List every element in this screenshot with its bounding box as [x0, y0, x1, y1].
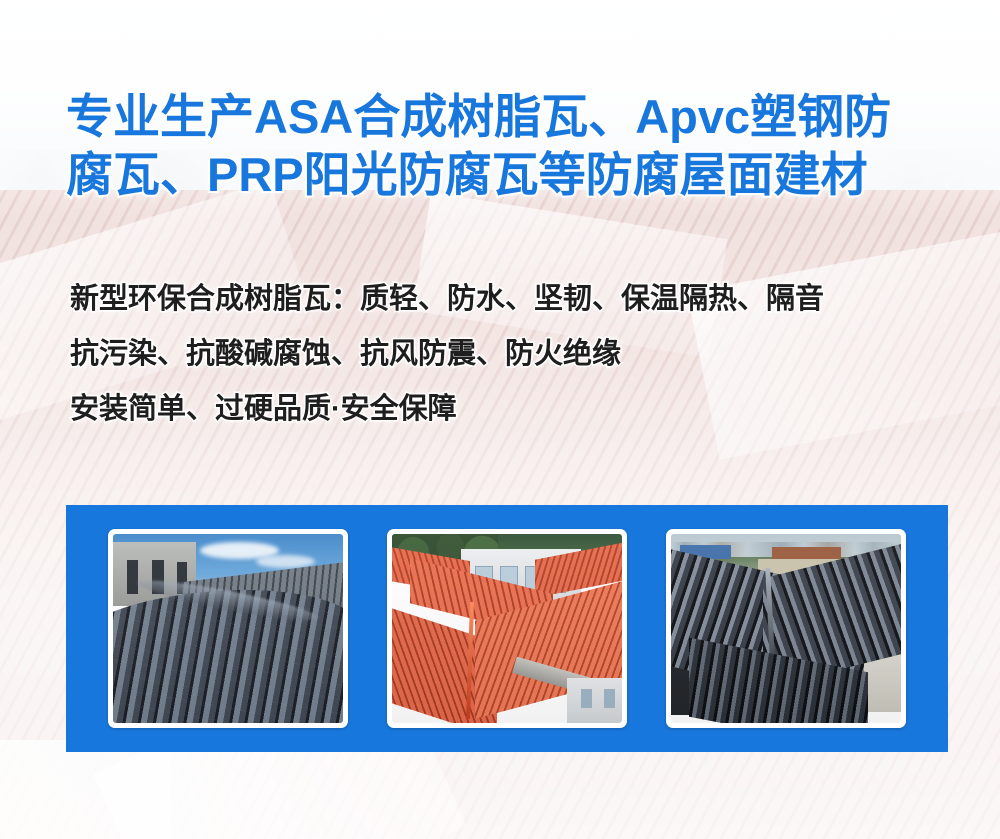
subheadline-line-2: 抗污染、抗酸碱腐蚀、抗风防震、防火绝缘 — [70, 327, 970, 382]
subheadline-line-3: 安装简单、过硬品质·安全保障 — [70, 382, 970, 437]
headline: 专业生产ASA合成树脂瓦、Apvc塑钢防 腐瓦、PRP阳光防腐瓦等防腐屋面建材 — [66, 88, 956, 204]
subheadline: 新型环保合成树脂瓦：质轻、防水、坚韧、保温隔热、隔音 抗污染、抗酸碱腐蚀、抗风防… — [70, 272, 970, 437]
subheadline-line-1: 新型环保合成树脂瓦：质轻、防水、坚韧、保温隔热、隔音 — [70, 272, 970, 327]
dark-resin-tile-roof-photo[interactable] — [666, 529, 906, 728]
product-banner: 专业生产ASA合成树脂瓦、Apvc塑钢防 腐瓦、PRP阳光防腐瓦等防腐屋面建材 … — [0, 0, 1000, 839]
photo-window — [127, 560, 139, 594]
photo-window — [604, 689, 616, 708]
photo-red-roof-building — [772, 547, 841, 558]
headline-line-2: 腐瓦、PRP阳光防腐瓦等防腐屋面建材 — [66, 146, 956, 204]
red-resin-tile-roof-photo[interactable] — [387, 529, 627, 728]
grey-resin-tile-roof-photo[interactable] — [108, 529, 348, 728]
photo-window — [581, 689, 593, 708]
headline-line-1: 专业生产ASA合成树脂瓦、Apvc塑钢防 — [66, 88, 956, 146]
photo-gallery-panel — [66, 505, 948, 752]
